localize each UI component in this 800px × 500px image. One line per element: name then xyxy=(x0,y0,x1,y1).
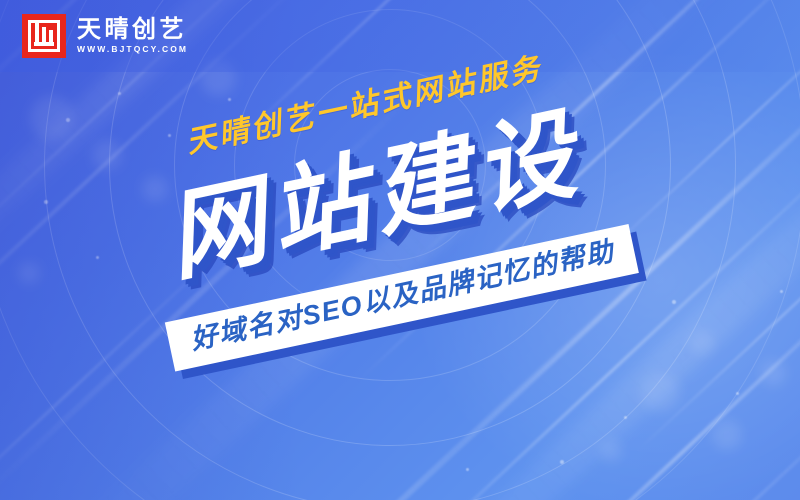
promo-banner: 天晴创艺 WWW.BJTQCY.COM 天晴创艺一站式网站服务 网站建设 好域名… xyxy=(0,0,800,500)
hero-content: 天晴创艺一站式网站服务 网站建设 好域名对SEO以及品牌记忆的帮助 xyxy=(0,0,800,500)
